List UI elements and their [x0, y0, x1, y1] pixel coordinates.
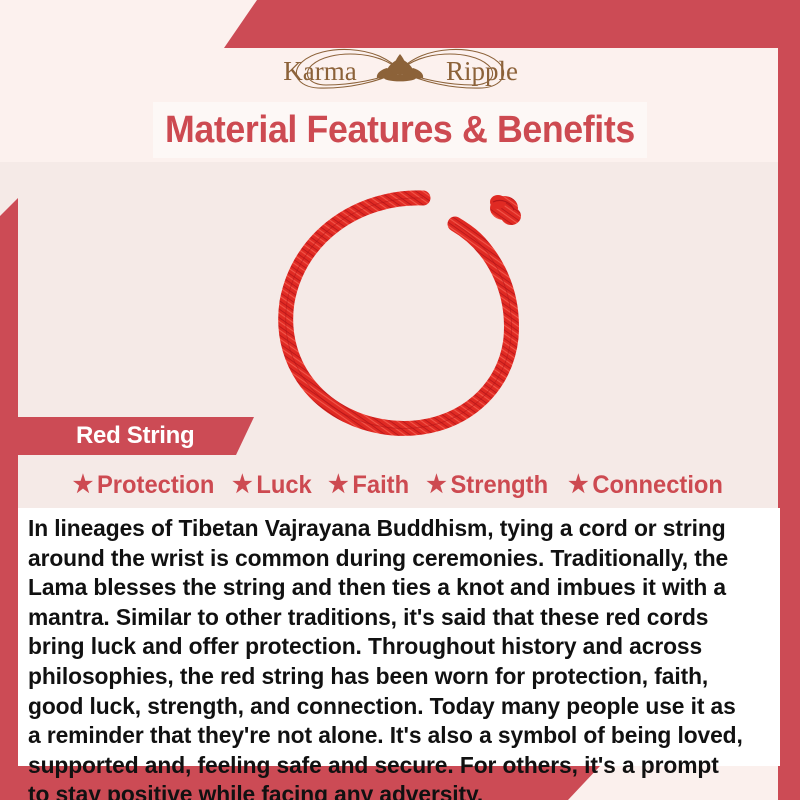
benefits-row: ★ Protection ★ Luck ★ Faith ★ Strength ★… [18, 466, 778, 504]
benefit-label: Strength [451, 473, 549, 498]
description-panel: In lineages of Tibetan Vajrayana Buddhis… [18, 508, 780, 766]
material-ribbon-label: Red String [76, 422, 194, 450]
decorative-band-left [0, 198, 18, 800]
brand-logo: Karma Ripple [0, 36, 800, 106]
page-title: Material Features & Benefits [165, 111, 635, 149]
logo-word-ripple: Ripple [446, 56, 518, 86]
benefit-label: Faith [353, 473, 410, 498]
bracelet-knot [490, 195, 521, 225]
decorative-band-right [778, 0, 800, 800]
star-icon: ★ [568, 473, 588, 497]
benefit-protection: ★ Protection [73, 473, 215, 498]
benefit-label: Connection [592, 473, 723, 498]
poster-root: Karma Ripple Material Features & Benefit… [0, 0, 800, 800]
title-band: Material Features & Benefits [153, 102, 647, 158]
star-icon: ★ [232, 473, 252, 497]
material-ribbon: Red String [18, 417, 254, 455]
star-icon: ★ [427, 473, 447, 497]
bracelet-illustration [255, 172, 575, 452]
benefit-label: Protection [97, 473, 214, 498]
logo-word-karma: Karma [283, 56, 356, 86]
product-image [255, 172, 575, 452]
benefit-luck: ★ Luck [232, 473, 312, 498]
description-text: In lineages of Tibetan Vajrayana Buddhis… [28, 514, 744, 800]
logo-svg: Karma Ripple [250, 38, 550, 104]
star-icon: ★ [328, 473, 348, 497]
benefit-faith: ★ Faith [328, 473, 409, 498]
benefit-strength: ★ Strength [427, 473, 549, 498]
star-icon: ★ [73, 473, 93, 497]
benefit-connection: ★ Connection [568, 473, 723, 498]
benefit-label: Luck [257, 473, 312, 498]
